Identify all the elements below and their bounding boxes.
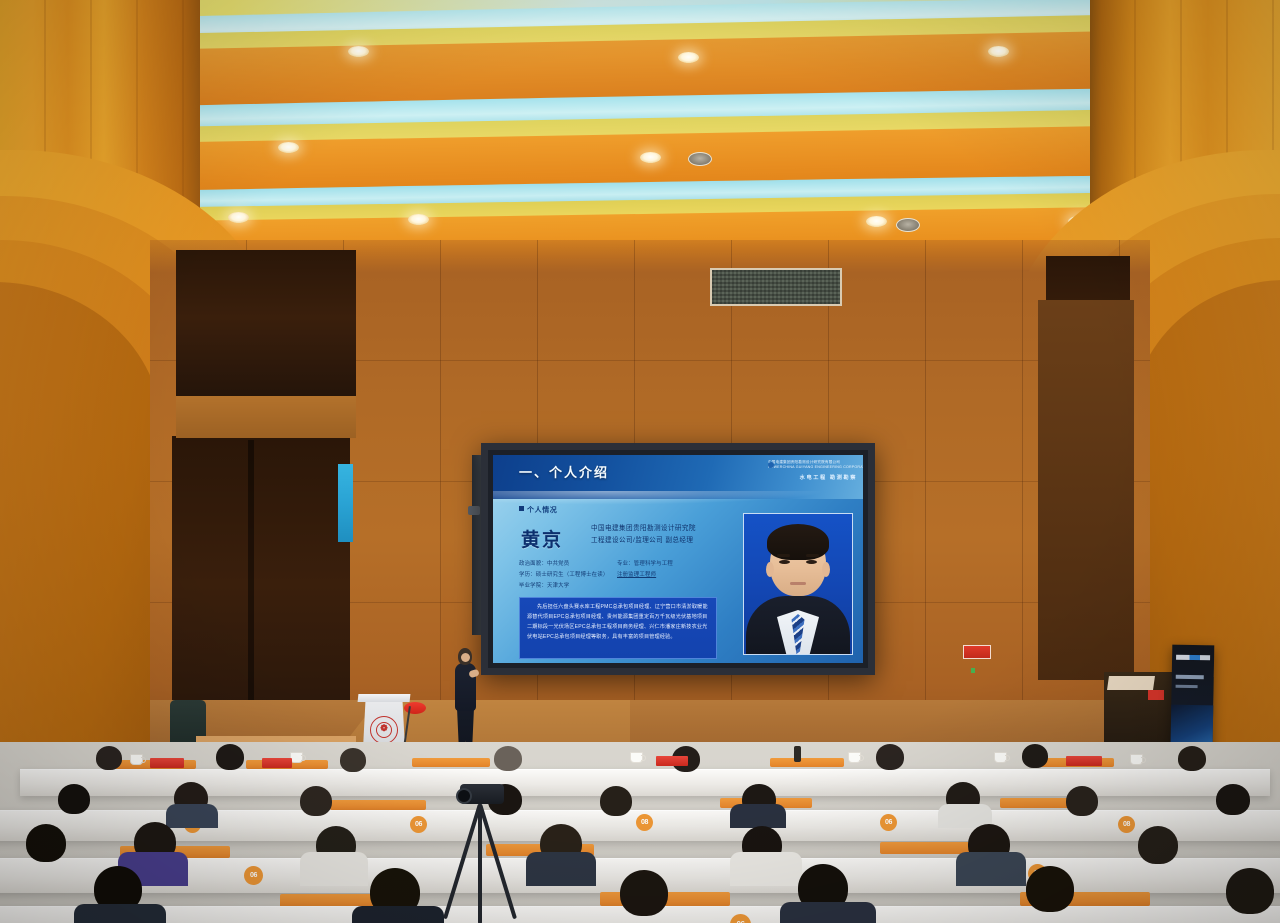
water-cup bbox=[130, 754, 143, 765]
audience-torso bbox=[526, 852, 596, 886]
thermos bbox=[794, 746, 801, 762]
video-camera-tripod bbox=[452, 784, 512, 923]
meta-politics: 政治面貌：中共党员 bbox=[519, 559, 617, 570]
audience-head bbox=[300, 786, 332, 816]
crest-glyph: ❁ bbox=[380, 723, 388, 734]
audience-torso bbox=[956, 852, 1026, 886]
cabinet-red-item bbox=[1148, 690, 1164, 700]
ceiling-downlight bbox=[228, 212, 249, 223]
ceiling-speaker-grille bbox=[688, 152, 712, 166]
red-folder bbox=[1066, 756, 1102, 766]
right-recess bbox=[1038, 300, 1134, 680]
cabinet-papers bbox=[1107, 676, 1155, 690]
audience-torso bbox=[352, 906, 444, 923]
portrait-eye-left bbox=[779, 560, 790, 564]
ceiling-downlight bbox=[408, 214, 429, 225]
slide-title: 一、个人介绍 bbox=[519, 462, 609, 481]
stage-left-alcove-upper bbox=[176, 250, 356, 400]
audience-torso bbox=[730, 804, 786, 828]
audience-head bbox=[58, 784, 90, 814]
logo-tagline: 水电工程 勘测勘察 bbox=[765, 474, 857, 481]
meta-certificate: 注册监理工程师 bbox=[617, 572, 656, 578]
audience-head bbox=[1226, 868, 1274, 914]
banner-subtitle-line bbox=[1176, 675, 1204, 679]
portrait-eye-right bbox=[806, 560, 817, 564]
audience-torso bbox=[166, 804, 218, 828]
audience-head bbox=[1066, 786, 1098, 816]
portrait-brow-left bbox=[777, 554, 790, 557]
audience-head bbox=[600, 786, 632, 816]
desk-top bbox=[330, 800, 426, 810]
slide-section-bullet: 个人情况 bbox=[519, 505, 557, 515]
speaker-organization: 中国电建集团贵阳勘测设计研究院 工程建设公司/监理公司 副总经理 bbox=[591, 523, 696, 547]
audience-head bbox=[216, 744, 244, 770]
audience-head bbox=[1216, 784, 1250, 815]
audience-head bbox=[876, 744, 904, 770]
meta-school: 毕业学院：天津大学 bbox=[519, 581, 617, 592]
audience-head bbox=[1178, 746, 1206, 771]
ceiling-downlight bbox=[988, 46, 1009, 57]
seat-number-badge: 08 bbox=[636, 814, 653, 831]
seat-number-badge: 08 bbox=[1118, 816, 1135, 833]
ceiling-downlight bbox=[640, 152, 661, 163]
experience-textbox: 先后担任六盘头赛水库工程PMC总承包项目经理、辽宁营口市清淤取暖能源替代项目EP… bbox=[519, 597, 717, 659]
seat-number-badge: 06 bbox=[244, 866, 263, 885]
wall-indicator-light bbox=[971, 668, 975, 673]
desk-top bbox=[770, 758, 844, 767]
portrait-ear-left bbox=[766, 562, 774, 577]
slide-canvas: 一、个人介绍 中国电建集团贵阳勘测设计研究院有限公司 POWERCHINA GU… bbox=[493, 455, 863, 663]
water-cup bbox=[848, 752, 861, 763]
air-vent-right bbox=[710, 268, 842, 306]
meta-education: 学历：硕士研究生（工程博士在读） bbox=[519, 570, 617, 581]
logo-company-cn: 中国电建集团贵阳勘测设计研究院有限公司 bbox=[768, 460, 840, 464]
meta-major: 专业：管理科学与工程 bbox=[617, 559, 748, 570]
cyan-wall-panel bbox=[338, 464, 353, 542]
audience-head bbox=[340, 748, 366, 772]
ceiling-downlight bbox=[866, 216, 887, 227]
logo-company-en: POWERCHINA GUIYANG ENGINEERING CORPORATI… bbox=[768, 465, 863, 469]
speaker-meta-table: 政治面貌：中共党员 专业：管理科学与工程 学历：硕士研究生（工程博士在读） 注册… bbox=[519, 559, 748, 591]
university-crest-icon: ❁ bbox=[370, 716, 398, 744]
audience-head bbox=[1138, 826, 1178, 864]
audience-torso bbox=[300, 852, 368, 886]
presenter-face bbox=[461, 653, 470, 662]
banner-body-line bbox=[1176, 685, 1198, 688]
audience-torso bbox=[74, 904, 166, 923]
desk-top bbox=[412, 758, 490, 767]
portrait-ear-right bbox=[822, 562, 830, 577]
ceiling-downlight bbox=[278, 142, 299, 153]
seat-number-badge: 06 bbox=[410, 816, 427, 833]
audience-seating-area: 02 06 08 06 08 06 02 08 bbox=[0, 742, 1280, 923]
seat-number-badge: 06 bbox=[880, 814, 897, 831]
audience-head bbox=[96, 746, 122, 770]
speaker-name: 黄京 bbox=[521, 525, 563, 552]
water-cup bbox=[994, 752, 1007, 763]
screen-mount-clip bbox=[468, 506, 480, 515]
water-cup bbox=[630, 752, 643, 763]
ceiling-downlight bbox=[348, 46, 369, 57]
presentation-screen[interactable]: 一、个人介绍 中国电建集团贵阳勘测设计研究院有限公司 POWERCHINA GU… bbox=[481, 443, 875, 675]
red-folder bbox=[262, 758, 292, 768]
camera-lens-icon bbox=[456, 788, 472, 804]
audience-head bbox=[494, 746, 522, 771]
company-logo: 中国电建集团贵阳勘测设计研究院有限公司 POWERCHINA GUIYANG E… bbox=[765, 459, 857, 493]
portrait-brow-right bbox=[806, 554, 819, 557]
banner-title-strip bbox=[1176, 655, 1210, 661]
audience-head bbox=[1022, 744, 1048, 768]
ceiling-downlight bbox=[678, 52, 699, 63]
audience-head bbox=[620, 870, 668, 916]
org-line-2: 工程建设公司/监理公司 副总经理 bbox=[591, 535, 696, 547]
red-folder bbox=[656, 756, 688, 766]
org-line-1: 中国电建集团贵阳勘测设计研究院 bbox=[591, 523, 696, 535]
speaker-portrait bbox=[743, 513, 853, 655]
audience-torso bbox=[780, 902, 876, 923]
tripod-leg bbox=[478, 804, 482, 923]
red-folder bbox=[150, 758, 184, 768]
auditorium-photo: 一、个人介绍 中国电建集团贵阳勘测设计研究院有限公司 POWERCHINA GU… bbox=[0, 0, 1280, 923]
video-camera bbox=[460, 784, 504, 804]
ceiling-speaker-grille bbox=[896, 218, 920, 232]
exit-sign bbox=[963, 645, 991, 659]
audience-head bbox=[26, 824, 66, 862]
alcove-lintel bbox=[176, 396, 356, 438]
square-bullet-icon bbox=[519, 506, 524, 511]
podium-top-surface bbox=[358, 694, 411, 702]
portrait-mouth bbox=[790, 582, 806, 585]
tripod-leg bbox=[478, 803, 517, 919]
water-cup bbox=[1130, 754, 1143, 765]
audience-torso bbox=[730, 852, 802, 886]
audience-head bbox=[1026, 866, 1074, 912]
